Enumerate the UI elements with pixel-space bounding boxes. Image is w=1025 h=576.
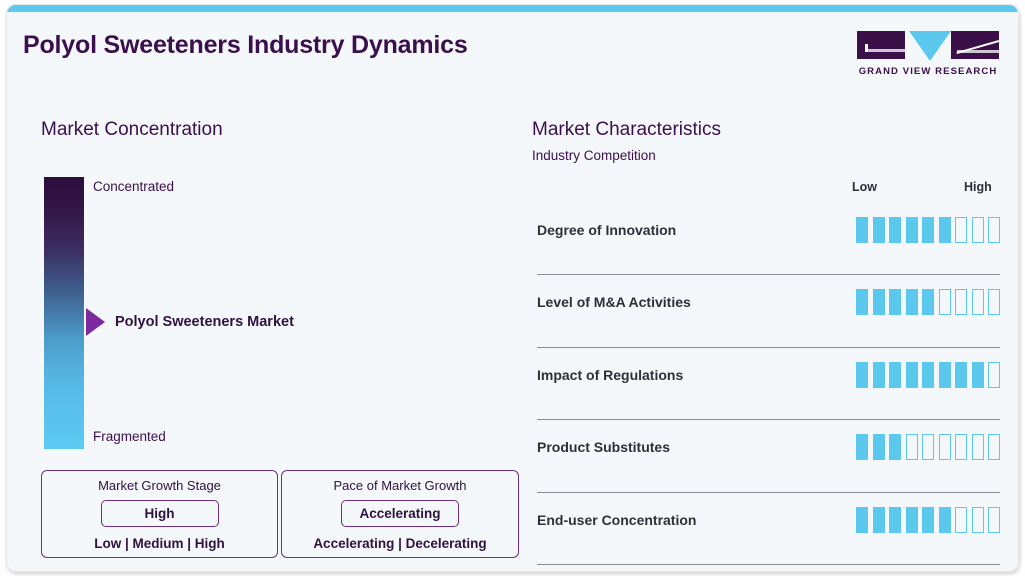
meter-segment [939, 289, 951, 315]
characteristic-label: Product Substitutes [537, 439, 670, 455]
meter-segment [906, 507, 918, 533]
meter-segment [856, 507, 868, 533]
meter-segment [906, 217, 918, 243]
meter-segment [873, 362, 885, 388]
meter-segment [939, 434, 951, 460]
meter-segment [889, 217, 901, 243]
meter-segment [873, 434, 885, 460]
logo-rect-right-icon [951, 31, 999, 59]
pace-of-market-growth-value: Accelerating [341, 500, 459, 527]
meter-segment [972, 217, 984, 243]
meter-segment [922, 507, 934, 533]
meter-segment [972, 434, 984, 460]
market-position-label: Polyol Sweeteners Market [115, 314, 294, 330]
meter-segment [889, 362, 901, 388]
meter-segment [988, 362, 1000, 388]
characteristic-row: Level of M&A Activities [537, 275, 1000, 347]
meter-segment [972, 289, 984, 315]
logo-marks [852, 31, 1004, 61]
page-title: Polyol Sweeteners Industry Dynamics [23, 31, 468, 60]
market-position-arrow-icon [86, 308, 105, 336]
grand-view-research-logo: GRAND VIEW RESEARCH [852, 31, 1004, 81]
meter-segment [873, 507, 885, 533]
meter-segment [955, 217, 967, 243]
pace-of-market-growth-scale: Accelerating | Decelerating [282, 536, 518, 551]
meter-segment [988, 507, 1000, 533]
characteristic-meter [856, 434, 1000, 460]
characteristic-label: Level of M&A Activities [537, 294, 691, 310]
meter-segment [922, 289, 934, 315]
characteristic-row: Product Substitutes [537, 420, 1000, 492]
market-growth-stage-scale: Low | Medium | High [42, 536, 277, 551]
market-growth-stage-value: High [101, 500, 219, 527]
characteristic-label: Impact of Regulations [537, 367, 683, 383]
characteristic-meter [856, 217, 1000, 243]
meter-segment [939, 362, 951, 388]
characteristic-label: End-user Concentration [537, 512, 696, 528]
market-concentration-heading: Market Concentration [41, 119, 223, 141]
market-growth-stage-title: Market Growth Stage [42, 478, 277, 493]
meter-segment [955, 507, 967, 533]
logo-rect-left-icon [857, 31, 905, 59]
meter-segment [972, 507, 984, 533]
meter-segment [972, 362, 984, 388]
infographic-card: Polyol Sweeteners Industry Dynamics GRAN… [6, 4, 1019, 572]
meter-segment [988, 434, 1000, 460]
characteristic-meter [856, 362, 1000, 388]
meter-segment [906, 289, 918, 315]
characteristics-rows: Degree of InnovationLevel of M&A Activit… [537, 203, 1000, 565]
meter-segment [873, 289, 885, 315]
meter-segment [889, 507, 901, 533]
meter-segment [889, 289, 901, 315]
concentration-top-label: Concentrated [93, 179, 174, 194]
meter-scale-low-label: Low [852, 180, 877, 194]
pace-of-market-growth-box: Pace of Market Growth Accelerating Accel… [281, 470, 519, 558]
logo-triangle-icon [909, 31, 951, 61]
meter-segment [906, 362, 918, 388]
meter-segment [988, 217, 1000, 243]
meter-segment [939, 507, 951, 533]
meter-scale-high-label: High [964, 180, 992, 194]
meter-segment [922, 434, 934, 460]
meter-segment [955, 289, 967, 315]
pace-of-market-growth-title: Pace of Market Growth [282, 478, 518, 493]
characteristic-meter [856, 507, 1000, 533]
meter-segment [922, 362, 934, 388]
characteristic-row: Degree of Innovation [537, 203, 1000, 275]
top-accent-strip [7, 5, 1019, 12]
meter-segment [856, 289, 868, 315]
market-growth-stage-box: Market Growth Stage High Low | Medium | … [41, 470, 278, 558]
characteristic-row: End-user Concentration [537, 493, 1000, 565]
meter-segment [939, 217, 951, 243]
meter-segment [889, 434, 901, 460]
meter-segment [856, 217, 868, 243]
characteristic-label: Degree of Innovation [537, 222, 676, 238]
meter-segment [873, 217, 885, 243]
concentration-bottom-label: Fragmented [93, 429, 166, 444]
characteristic-meter [856, 289, 1000, 315]
meter-segment [988, 289, 1000, 315]
meter-segment [856, 434, 868, 460]
characteristic-row: Impact of Regulations [537, 348, 1000, 420]
concentration-gradient-bar [44, 177, 84, 449]
market-characteristics-subheading: Industry Competition [532, 148, 656, 163]
meter-segment [955, 362, 967, 388]
market-characteristics-heading: Market Characteristics [532, 119, 721, 141]
meter-segment [906, 434, 918, 460]
logo-text: GRAND VIEW RESEARCH [852, 66, 1004, 77]
meter-segment [856, 362, 868, 388]
meter-segment [922, 217, 934, 243]
meter-segment [955, 434, 967, 460]
